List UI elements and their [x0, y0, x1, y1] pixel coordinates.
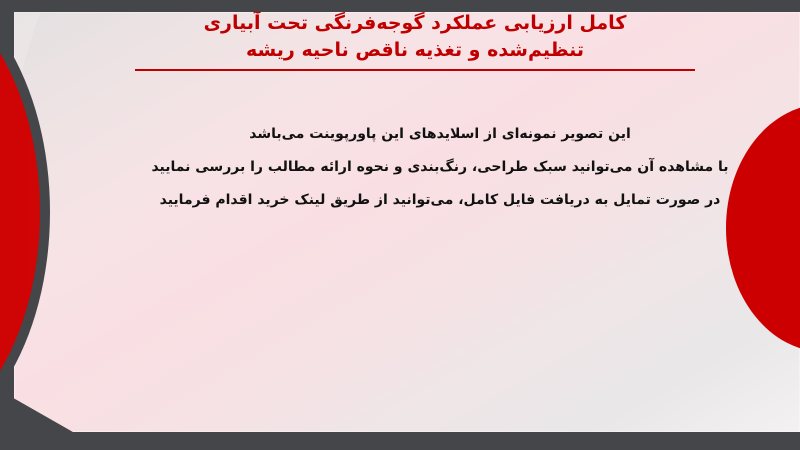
- slide-title-line-1: کامل ارزیابی عملکرد گوجه‌فرنگی تحت آبیار…: [120, 10, 710, 37]
- slide-body-line-2: با مشاهده آن می‌توانید سبک طراحی، رنگ‌بن…: [120, 151, 760, 184]
- slide-title-line-2: تنظیم‌شده و تغذیه ناقص ناحیه ریشه: [120, 37, 710, 64]
- slide-title: کامل ارزیابی عملکرد گوجه‌فرنگی تحت آبیار…: [120, 10, 710, 71]
- slide-body-line-1: این تصویر نمونه‌ای از اسلایدهای این پاور…: [120, 118, 760, 151]
- slide-body-line-3: در صورت تمایل به دریافت فایل کامل، می‌تو…: [120, 184, 760, 217]
- slide-text-layer: کامل ارزیابی عملکرد گوجه‌فرنگی تحت آبیار…: [0, 0, 800, 450]
- slide-body: این تصویر نمونه‌ای از اسلایدهای این پاور…: [120, 118, 760, 217]
- slide-title-underline: [135, 69, 695, 71]
- slide-canvas: کامل ارزیابی عملکرد گوجه‌فرنگی تحت آبیار…: [0, 0, 800, 450]
